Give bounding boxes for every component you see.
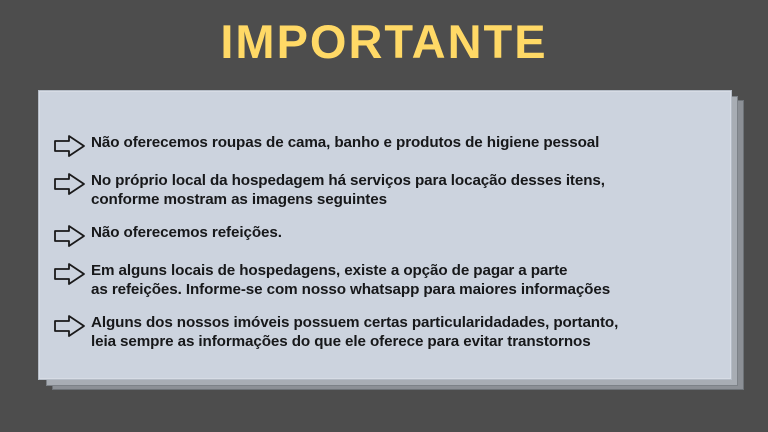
arrow-right-outline-icon xyxy=(53,134,87,158)
list-item-line2: leia sempre as informações do que ele of… xyxy=(91,332,719,351)
content-panel: Não oferecemos roupas de cama, banho e p… xyxy=(38,90,732,380)
list-item: Não oferecemos refeições. xyxy=(53,223,719,248)
list-item-line1: No próprio local da hospedagem há serviç… xyxy=(91,172,605,189)
list-item: Em alguns locais de hospedagens, existe … xyxy=(53,261,719,300)
list-item-line1: Não oferecemos roupas de cama, banho e p… xyxy=(91,134,599,151)
bullet-list: Não oferecemos roupas de cama, banho e p… xyxy=(53,133,719,365)
list-item-line1: Alguns dos nossos imóveis possuem certas… xyxy=(91,314,618,331)
list-item-text: No próprio local da hospedagem há serviç… xyxy=(91,171,719,210)
arrow-right-outline-icon xyxy=(53,314,87,338)
list-item-text: Não oferecemos roupas de cama, banho e p… xyxy=(91,133,719,152)
list-item-line2: conforme mostram as imagens seguintes xyxy=(91,190,719,209)
list-item: Não oferecemos roupas de cama, banho e p… xyxy=(53,133,719,158)
list-item-line1: Em alguns locais de hospedagens, existe … xyxy=(91,262,567,279)
list-item-line1: Não oferecemos refeições. xyxy=(91,224,282,241)
list-item-text: Não oferecemos refeições. xyxy=(91,223,719,242)
list-item-text: Alguns dos nossos imóveis possuem certas… xyxy=(91,313,719,352)
list-item: No próprio local da hospedagem há serviç… xyxy=(53,171,719,210)
arrow-right-outline-icon xyxy=(53,262,87,286)
arrow-right-outline-icon xyxy=(53,172,87,196)
arrow-right-outline-icon xyxy=(53,224,87,248)
page-title: IMPORTANTE xyxy=(0,17,768,66)
slide: IMPORTANTE Não oferecemos roupas de cama… xyxy=(0,0,768,432)
list-item-line2: as refeições. Informe-se com nosso whats… xyxy=(91,280,719,299)
list-item: Alguns dos nossos imóveis possuem certas… xyxy=(53,313,719,352)
list-item-text: Em alguns locais de hospedagens, existe … xyxy=(91,261,719,300)
